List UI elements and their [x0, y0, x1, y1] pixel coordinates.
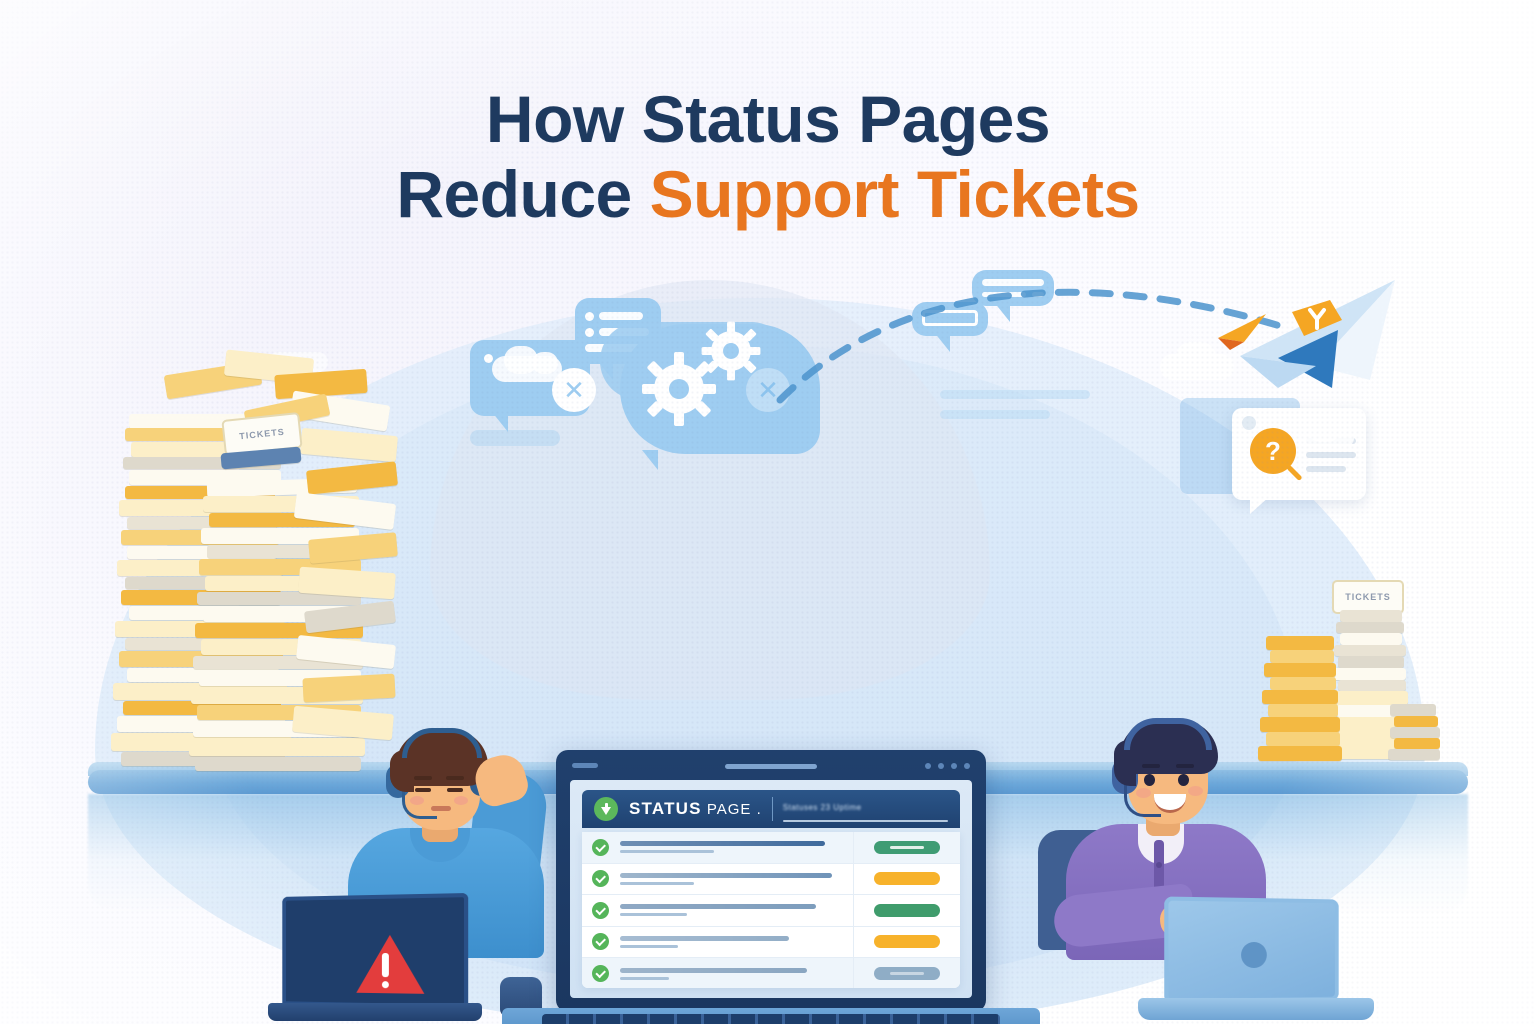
cloud-icon: [1386, 532, 1416, 554]
laptop-base: [268, 1003, 482, 1021]
service-name-placeholder: [620, 968, 843, 980]
ticket-stack: TICKETS: [1270, 578, 1440, 788]
laptop-screen: [282, 893, 468, 1009]
laptop-screen: [1164, 896, 1338, 1003]
table-row[interactable]: [582, 832, 960, 864]
status-badge: [874, 872, 940, 885]
keyboard[interactable]: [542, 1014, 1000, 1024]
status-row-list: [582, 832, 960, 988]
download-icon[interactable]: [594, 797, 618, 821]
meta-text: Statuses 23 Uptime: [783, 803, 862, 812]
service-name-placeholder: [620, 873, 843, 885]
title-line-1: How Status Pages: [0, 82, 1536, 157]
status-page-meta: Statuses 23 Uptime: [783, 797, 948, 822]
title-line-2-navy: Reduce: [396, 157, 649, 231]
check-icon: [592, 839, 609, 856]
check-icon: [592, 902, 609, 919]
divider: [772, 797, 773, 821]
status-badge: [874, 841, 940, 854]
service-name-placeholder: [620, 904, 843, 916]
check-icon: [592, 965, 609, 982]
laptop-base: [502, 1008, 1040, 1024]
bg-shape: [470, 430, 560, 446]
status-badge: [874, 935, 940, 948]
status-page-screen: STATUS PAGE . Statuses 23 Uptime: [570, 780, 972, 998]
status-page-header: STATUS PAGE . Statuses 23 Uptime: [582, 790, 960, 828]
x-icon: ✕: [552, 368, 596, 412]
paper-plane-icon: [1214, 308, 1276, 354]
table-row[interactable]: [582, 958, 960, 988]
bezel-dots: [925, 763, 970, 769]
page-title: How Status Pages Reduce Support Tickets: [0, 82, 1536, 232]
ticket-tag: TICKETS: [1332, 580, 1404, 614]
laptop-shell: STATUS PAGE . Statuses 23 Uptime: [556, 750, 986, 1012]
webcam-bar: [725, 764, 817, 769]
laptop-base: [1138, 998, 1374, 1020]
table-row[interactable]: [582, 864, 960, 896]
service-name-placeholder: [620, 841, 843, 853]
status-page-brand: STATUS PAGE .: [629, 799, 762, 819]
cloud-icon: [532, 352, 558, 374]
brand-light: PAGE .: [702, 801, 762, 818]
send-badge-icon: [1286, 298, 1348, 350]
brand-bold: STATUS: [629, 799, 702, 818]
service-name-placeholder: [620, 936, 843, 948]
agent-laptop[interactable]: [1156, 898, 1356, 1024]
ticket-pile: TICKETS: [95, 350, 395, 780]
check-icon: [592, 933, 609, 950]
check-icon: [592, 870, 609, 887]
scene: ✕ ✕: [0, 250, 1536, 900]
alert-laptop[interactable]: [272, 895, 472, 1024]
warning-triangle-icon: [356, 935, 424, 994]
laptop-logo: [1241, 942, 1267, 968]
table-row[interactable]: [582, 927, 960, 959]
status-badge: [874, 967, 940, 980]
table-row[interactable]: [582, 895, 960, 927]
status-page-laptop[interactable]: STATUS PAGE . Statuses 23 Uptime: [556, 750, 986, 1024]
bezel-detail: [572, 763, 598, 768]
status-badge: [874, 904, 940, 917]
illustration-canvas: How Status Pages Reduce Support Tickets: [0, 0, 1536, 1024]
title-line-2-orange: Support Tickets: [650, 157, 1140, 231]
